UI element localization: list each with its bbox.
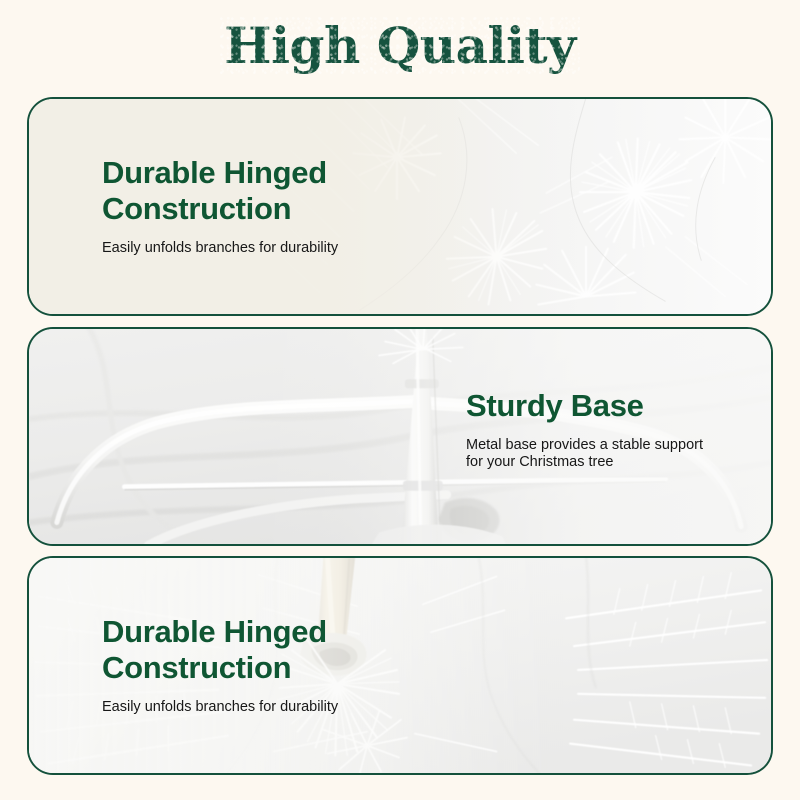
- panel-3-text-block: Durable Hinged Construction Easily unfol…: [102, 614, 338, 716]
- panel-3-heading: Durable Hinged Construction: [102, 614, 338, 686]
- feature-panel-sturdy-base: Sturdy Base Metal base provides a stable…: [27, 327, 773, 546]
- panel-2-subtitle: Metal base provides a stable support for…: [466, 437, 703, 471]
- feature-panel-durable-hinged-construction-top: Durable Hinged Construction Easily unfol…: [27, 97, 773, 316]
- product-feature-infographic: High Quality: [0, 0, 800, 800]
- panel-1-heading: Durable Hinged Construction: [102, 155, 338, 227]
- panel-1-subtitle: Easily unfolds branches for durability: [102, 240, 338, 257]
- panel-3-subtitle: Easily unfolds branches for durability: [102, 699, 338, 716]
- panel-2-heading: Sturdy Base: [466, 388, 703, 424]
- page-title-container: High Quality: [0, 18, 800, 74]
- panel-1-text-block: Durable Hinged Construction Easily unfol…: [102, 155, 338, 257]
- feature-panel-durable-hinged-construction-bottom: Durable Hinged Construction Easily unfol…: [27, 556, 773, 775]
- panel-2-text-block: Sturdy Base Metal base provides a stable…: [466, 388, 703, 471]
- page-title: High Quality: [224, 18, 575, 74]
